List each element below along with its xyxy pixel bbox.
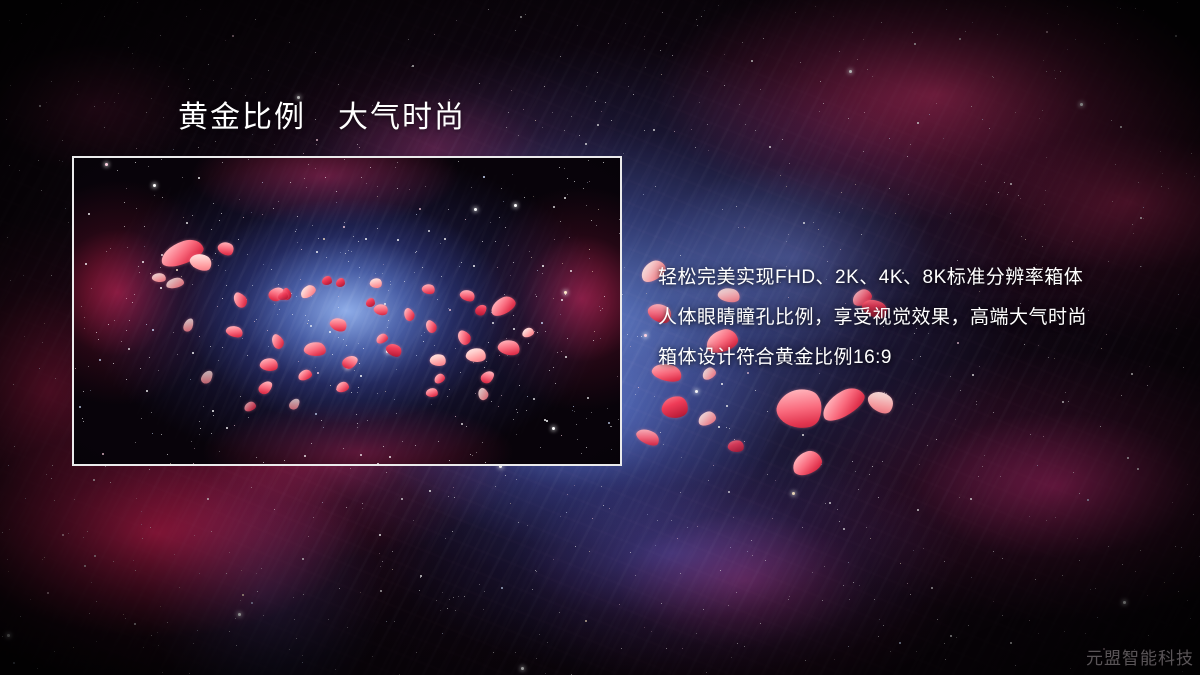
body-text-line-3: 箱体设计符合黄金比例16:9 <box>658 338 1178 378</box>
watermark: 元盟智能科技 <box>1086 644 1194 669</box>
petal <box>278 292 288 300</box>
petal <box>865 386 898 418</box>
petal <box>322 276 332 285</box>
petal <box>772 381 828 435</box>
body-text-line-1: 轻松完美实现FHD、2K、4K、8K标准分辨率箱体 <box>658 258 1178 298</box>
petal <box>661 394 690 419</box>
nebula-photo-frame <box>72 156 622 466</box>
nebula-photo-inner <box>74 158 620 464</box>
petal <box>817 383 869 426</box>
petal <box>366 298 375 307</box>
body-text-block: 轻松完美实现FHD、2K、4K、8K标准分辨率箱体 人体眼睛瞳孔比例，享受视觉效… <box>658 258 1178 378</box>
body-text-line-2: 人体眼睛瞳孔比例，享受视觉效果，高端大气时尚 <box>658 298 1178 338</box>
page-title: 黄金比例 大气时尚 <box>178 100 466 136</box>
petal <box>634 425 662 449</box>
presentation-slide: 黄金比例 大气时尚 轻松完美实现FHD、2K、4K、8K标准分辨率箱体 人体眼睛… <box>0 0 1200 675</box>
nebula-photo-wisps <box>74 158 620 464</box>
petal <box>789 448 824 478</box>
petal <box>697 410 718 427</box>
petal <box>336 278 345 287</box>
petal <box>727 438 745 453</box>
